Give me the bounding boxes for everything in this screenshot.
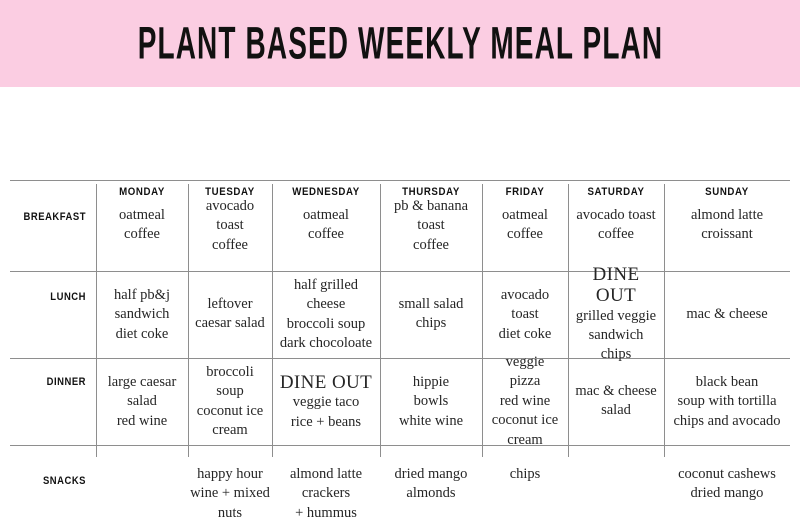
cell-line: nuts (190, 504, 270, 523)
cell-dinner-friday: veggiepizzared winecoconut icecream (482, 353, 568, 450)
cell-line: soup (190, 382, 270, 401)
cell-dinner-sunday: black beansoup with tortillachips and av… (664, 373, 790, 431)
cell-line: coconut cashews (666, 465, 788, 484)
cell-dinner-tuesday: broccolisoupcoconut icecream (188, 363, 272, 441)
row-label-lunch: LUNCH (12, 291, 86, 303)
page-title: PLANT BASED WEEKLY MEAL PLAN (137, 21, 663, 67)
cell-line: coconut ice (190, 402, 270, 421)
cell-breakfast-saturday: avocado toastcoffee (568, 206, 664, 245)
cell-line: cream (190, 421, 270, 440)
cell-line: red wine (98, 412, 186, 431)
cell-line: mac & cheese (570, 382, 662, 401)
cell-lunch-saturday: DINE OUTgrilled veggiesandwichchips (568, 264, 664, 365)
cell-line: salad (98, 392, 186, 411)
cell-line: crackers (274, 484, 378, 503)
cell-line: oatmeal (274, 206, 378, 225)
cell-snacks-friday: chips (482, 465, 568, 484)
rule-above-lunch (10, 180, 790, 181)
cell-dinner-monday: large caesarsaladred wine (96, 373, 188, 431)
cell-line: half grilled (274, 276, 378, 295)
cell-line: broccoli (190, 363, 270, 382)
cell-line: red wine (484, 392, 566, 411)
day-header-friday: FRIDAY (487, 186, 563, 198)
cell-line: almond latte (274, 465, 378, 484)
cell-breakfast-wednesday: oatmealcoffee (272, 206, 380, 245)
cell-line: white wine (382, 412, 480, 431)
row-label-breakfast: BREAKFAST (12, 211, 86, 223)
cell-line: large caesar (98, 373, 186, 392)
rule-above-snacks (10, 358, 790, 359)
cell-line: avocado (190, 197, 270, 216)
cell-snacks-sunday: coconut cashewsdried mango (664, 465, 790, 504)
cell-line: wine + mixed (190, 484, 270, 503)
cell-line: cream (484, 431, 566, 450)
cell-line: grilled veggie (570, 307, 662, 326)
cell-breakfast-friday: oatmealcoffee (482, 206, 568, 245)
cell-line: veggie (484, 353, 566, 372)
cell-breakfast-thursday: pb & bananatoastcoffee (380, 197, 482, 255)
cell-line: happy hour (190, 465, 270, 484)
cell-line: coffee (274, 225, 378, 244)
dine-out-label: DINE OUT (570, 264, 662, 307)
dine-out-label: DINE OUT (274, 372, 378, 393)
cell-line: soup with tortilla (666, 392, 788, 411)
day-header-sunday: SUNDAY (672, 186, 783, 198)
cell-line: coffee (98, 225, 186, 244)
cell-line: dried mango (666, 484, 788, 503)
cell-line: almonds (382, 484, 480, 503)
cell-lunch-thursday: small saladchips (380, 295, 482, 334)
cell-line: bowls (382, 392, 480, 411)
title-banner: PLANT BASED WEEKLY MEAL PLAN (0, 0, 800, 87)
cell-dinner-thursday: hippiebowlswhite wine (380, 373, 482, 431)
cell-breakfast-monday: oatmealcoffee (96, 206, 188, 245)
rule-above-dinner (10, 271, 790, 272)
cell-dinner-wednesday: DINE OUTveggie tacorice + beans (272, 372, 380, 432)
cell-line: coffee (570, 225, 662, 244)
day-header-saturday: SATURDAY (574, 186, 658, 198)
cell-dinner-saturday: mac & cheesesalad (568, 382, 664, 421)
cell-line: mac & cheese (666, 305, 788, 324)
cell-line: toast (382, 216, 480, 235)
cell-line: sandwich (570, 326, 662, 345)
cell-line: small salad (382, 295, 480, 314)
cell-snacks-thursday: dried mangoalmonds (380, 465, 482, 504)
cell-line: coconut ice (484, 411, 566, 430)
cell-lunch-wednesday: half grilledcheesebroccoli soupdark choc… (272, 276, 380, 354)
cell-line: rice + beans (274, 413, 378, 432)
cell-lunch-tuesday: leftovercaesar salad (188, 295, 272, 334)
cell-line: chips (570, 345, 662, 364)
cell-lunch-sunday: mac & cheese (664, 305, 790, 324)
day-header-monday: MONDAY (102, 186, 183, 198)
cell-line: + hummus (274, 504, 378, 523)
meal-plan-table: BREAKFAST LUNCH DINNER SNACKS MONDAY TUE… (0, 87, 800, 444)
cell-lunch-friday: avocadotoastdiet coke (482, 286, 568, 344)
cell-line: leftover (190, 295, 270, 314)
rule-below-dinner (10, 445, 790, 446)
cell-line: oatmeal (98, 206, 186, 225)
cell-line: toast (484, 305, 566, 324)
cell-line: oatmeal (484, 206, 566, 225)
cell-line: almond latte (666, 206, 788, 225)
cell-line: diet coke (98, 325, 186, 344)
cell-line: sandwich (98, 305, 186, 324)
cell-line: coffee (382, 236, 480, 255)
cell-line: diet coke (484, 325, 566, 344)
cell-snacks-wednesday: almond lattecrackers+ hummus (272, 465, 380, 523)
cell-line: croissant (666, 225, 788, 244)
cell-line: dark chocoloate (274, 334, 378, 353)
cell-line: pizza (484, 372, 566, 391)
cell-line: dried mango (382, 465, 480, 484)
cell-line: black bean (666, 373, 788, 392)
cell-line: chips (382, 314, 480, 333)
cell-line: salad (570, 401, 662, 420)
cell-line: coffee (190, 236, 270, 255)
day-header-wednesday: WEDNESDAY (278, 186, 373, 198)
cell-line: pb & banana (382, 197, 480, 216)
row-label-snacks: SNACKS (12, 475, 86, 487)
row-label-dinner: DINNER (12, 376, 86, 388)
cell-snacks-tuesday: happy hourwine + mixednuts (188, 465, 272, 523)
cell-line: coffee (484, 225, 566, 244)
cell-lunch-monday: half pb&jsandwichdiet coke (96, 286, 188, 344)
cell-line: toast (190, 216, 270, 235)
cell-line: chips and avocado (666, 412, 788, 431)
cell-line: avocado (484, 286, 566, 305)
cell-line: chips (484, 465, 566, 484)
cell-line: hippie (382, 373, 480, 392)
cell-line: avocado toast (570, 206, 662, 225)
cell-line: broccoli soup (274, 315, 378, 334)
cell-line: caesar salad (190, 314, 270, 333)
cell-breakfast-tuesday: avocadotoastcoffee (188, 197, 272, 255)
cell-line: cheese (274, 295, 378, 314)
cell-breakfast-sunday: almond lattecroissant (664, 206, 790, 245)
cell-line: half pb&j (98, 286, 186, 305)
cell-line: veggie taco (274, 393, 378, 412)
